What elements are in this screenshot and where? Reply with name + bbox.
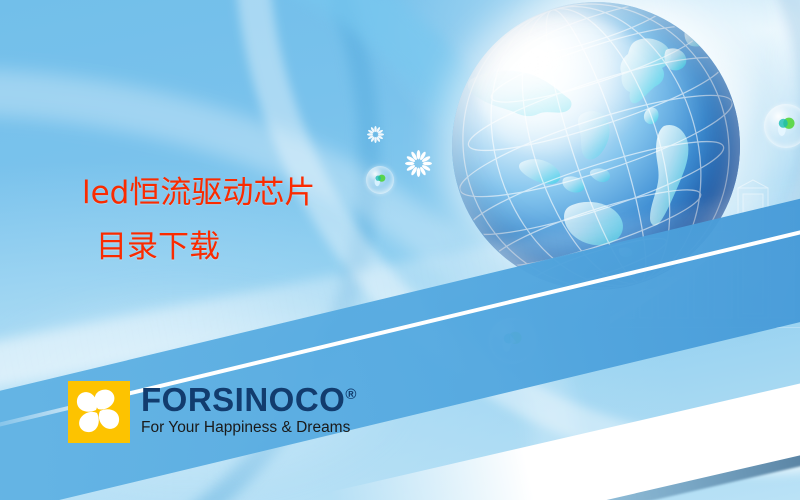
banner-canvas: led恒流驱动芯片 目录下载 FORSINOCO® For Your Happi… [0, 0, 800, 500]
brand-logo-text: FORSINOCO® For Your Happiness & Dreams [141, 381, 356, 436]
four-petal-pinwheel-icon [68, 381, 130, 443]
page-title: led恒流驱动芯片 目录下载 [82, 166, 412, 274]
brand-tagline: For Your Happiness & Dreams [141, 419, 356, 436]
headline-line-2: 目录下载 [96, 220, 412, 274]
brand-wordmark-text: FORSINOCO [141, 381, 345, 418]
brand-logo[interactable]: FORSINOCO® For Your Happiness & Dreams [68, 381, 356, 443]
starburst-icon [367, 126, 384, 143]
brand-wordmark: FORSINOCO® [141, 383, 356, 417]
registered-trademark-icon: ® [345, 386, 356, 403]
headline-line-1: led恒流驱动芯片 [82, 175, 315, 211]
bubble-icon [764, 104, 800, 148]
bubble-contents [772, 112, 800, 140]
